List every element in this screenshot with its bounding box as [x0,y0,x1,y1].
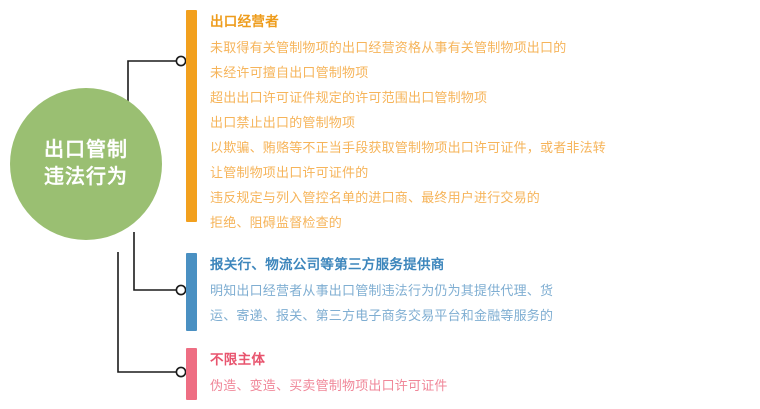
branch-line: 明知出口经营者从事出口管制违法行为仍为其提供代理、货 [210,278,553,303]
branch-color-bar-two [186,253,197,331]
branch-content-one: 出口经营者 未取得有关管制物项的出口经营资格从事有关管制物项出口的 未经许可擅自… [210,10,606,235]
connector-to-branch-three-path [118,252,176,372]
connector-endpoint-branch-two [176,285,185,294]
branch-line: 违反规定与列入管控名单的进口商、最终用户进行交易的 [210,185,606,210]
connector-endpoint-branch-one [176,56,185,65]
root-node: 出口管制 违法行为 [10,88,162,240]
branch-line: 拒绝、阻碍监督检查的 [210,210,606,235]
branch-color-bar-one [186,10,197,222]
branch-unrestricted-subject: 不限主体 伪造、变造、买卖管制物项出口许可证件 [186,348,448,400]
branch-color-bar-three [186,348,197,400]
branch-third-party-provider: 报关行、物流公司等第三方服务提供商 明知出口经营者从事出口管制违法行为仍为其提供… [186,253,553,331]
branch-line: 运、寄递、报关、第三方电子商务交易平台和金融等服务的 [210,303,553,328]
branch-content-two: 报关行、物流公司等第三方服务提供商 明知出口经营者从事出口管制违法行为仍为其提供… [210,253,553,328]
branch-line: 未经许可擅自出口管制物项 [210,60,606,85]
branch-line: 让管制物项出口许可证件的 [210,160,606,185]
root-node-label: 出口管制 违法行为 [44,137,128,191]
branch-line: 出口禁止出口的管制物项 [210,110,606,135]
branch-line: 未取得有关管制物项的出口经营资格从事有关管制物项出口的 [210,35,606,60]
branch-title-three: 不限主体 [210,349,448,371]
branch-title-two: 报关行、物流公司等第三方服务提供商 [210,254,553,276]
branch-export-operator: 出口经营者 未取得有关管制物项的出口经营资格从事有关管制物项出口的 未经许可擅自… [186,10,606,235]
branch-line: 超出出口许可证件规定的许可范围出口管制物项 [210,85,606,110]
connector-to-branch-two-path [134,232,176,290]
branch-line: 以欺骗、贿赂等不正当手段获取管制物项出口许可证件，或者非法转 [210,135,606,160]
branch-line: 伪造、变造、买卖管制物项出口许可证件 [210,373,448,398]
branch-title-one: 出口经营者 [210,11,606,33]
connector-endpoint-branch-three [176,367,185,376]
branch-content-three: 不限主体 伪造、变造、买卖管制物项出口许可证件 [210,348,448,398]
